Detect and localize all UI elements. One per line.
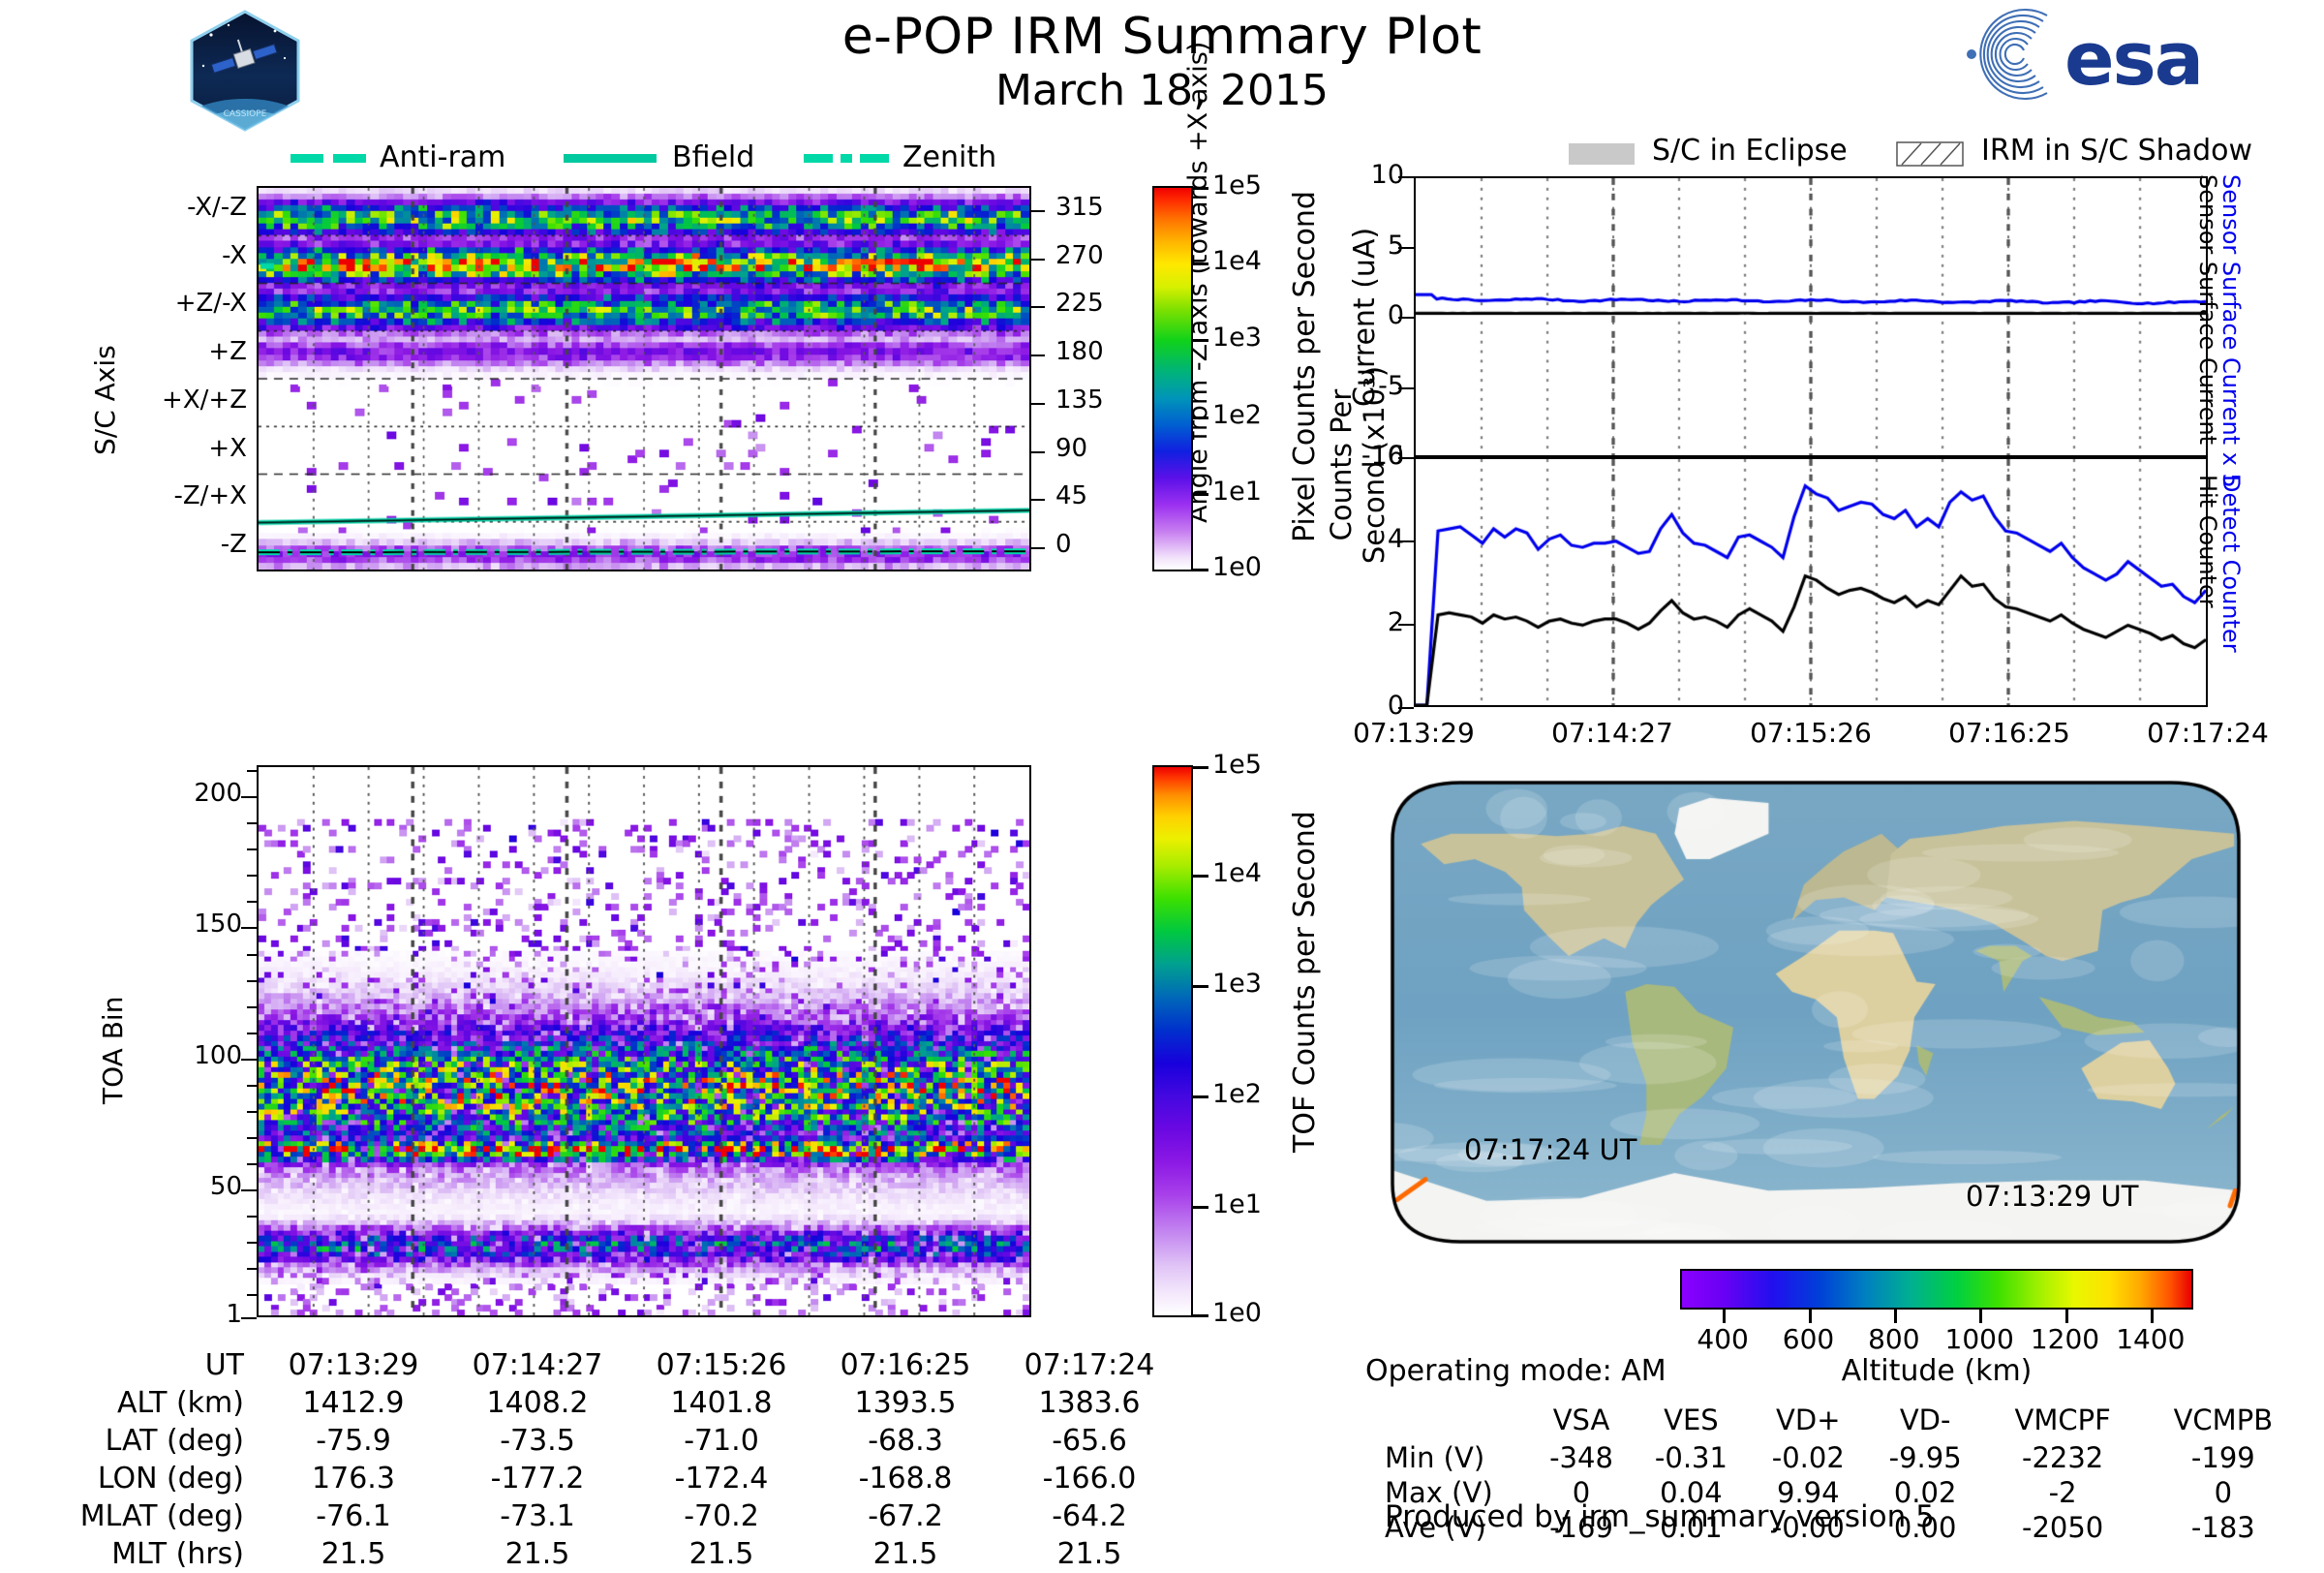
panel1-cb-label-2: 1e3 xyxy=(1212,323,1262,353)
legend-label-antiram: Anti-ram xyxy=(380,140,505,174)
right-xtick-0: 07:13:29 xyxy=(1336,717,1491,749)
panel1-ytick-0: -X/-Z xyxy=(107,193,247,222)
panel2-ytick-mark-4 xyxy=(241,1317,257,1319)
esa-wordmark: esa xyxy=(2064,15,2202,102)
sensor-surface-current-panel[interactable] xyxy=(1414,176,2208,457)
right-panel2-black-label: Hit Counter xyxy=(2194,475,2221,608)
voltage-header-row: VSAVESVD+VD-VMCPFVCMPB xyxy=(1385,1403,2305,1440)
shadow-swatch-icon xyxy=(1896,141,1964,167)
voltage-cell: -0.02 xyxy=(1750,1440,1867,1475)
panel2-cb-label-2: 1e3 xyxy=(1212,969,1262,999)
ephemeris-row: ALT (km)1412.91408.21401.81393.51383.6 xyxy=(39,1384,1181,1422)
panel2-minor-tick xyxy=(247,796,257,798)
alt-cb-tick-1 xyxy=(1809,1310,1812,1323)
world-map-canvas xyxy=(1385,775,2247,1249)
ephemeris-cell: 21.5 xyxy=(813,1535,997,1573)
alt-cb-tick-3 xyxy=(1979,1310,1982,1323)
alt-cb-tick-5 xyxy=(2151,1310,2154,1323)
rp1-tick xyxy=(1398,317,1414,319)
operating-mode-label: Operating mode: AM xyxy=(1365,1354,1667,1388)
panel1-ytick-mark-3 xyxy=(1031,355,1045,356)
alt-cb-label-0: 400 xyxy=(1697,1323,1748,1355)
ephemeris-cell: -166.0 xyxy=(997,1460,1181,1497)
ephemeris-cell: -177.2 xyxy=(445,1460,629,1497)
ephemeris-cell: 07:14:27 xyxy=(445,1346,629,1384)
voltage-cell: -2232 xyxy=(1984,1440,2142,1475)
ephemeris-cell: -68.3 xyxy=(813,1422,997,1460)
panel1-ytick-mark-2 xyxy=(1031,306,1045,308)
toa-bin-spectrogram-panel[interactable] xyxy=(257,765,1031,1317)
current-line-chart xyxy=(1416,178,2206,455)
panel1-ytick-right-2: 225 xyxy=(1055,289,1104,318)
voltage-cell: -183 xyxy=(2142,1510,2305,1545)
voltage-column-header: VES xyxy=(1633,1403,1750,1440)
voltage-cell: -2 xyxy=(1984,1475,2142,1510)
ephemeris-cell: -65.6 xyxy=(997,1422,1181,1460)
ephemeris-row: MLAT (deg)-76.1-73.1-70.2-67.2-64.2 xyxy=(39,1497,1181,1535)
panel1-legend: Anti-ram Bfield Zenith xyxy=(261,140,939,175)
panel2-minor-tick xyxy=(247,1137,257,1139)
ephemeris-cell: 21.5 xyxy=(261,1535,445,1573)
altitude-colorbar-title: Altitude (km) xyxy=(1680,1354,2193,1388)
voltage-column-header: VCMPB xyxy=(2142,1403,2305,1440)
ephemeris-row-label: LON (deg) xyxy=(39,1460,261,1497)
panel2-minor-tick xyxy=(247,1294,257,1296)
panel2-minor-tick xyxy=(247,1163,257,1165)
legend-antiram-dash-icon xyxy=(290,154,323,163)
voltage-cell: -2050 xyxy=(1984,1510,2142,1545)
panel2-minor-tick xyxy=(247,1268,257,1270)
panel2-cb-tick-2 xyxy=(1193,985,1208,988)
panel1-ytick-right-6: 45 xyxy=(1055,481,1087,510)
panel1-ytick-7: -Z xyxy=(107,530,247,559)
voltage-cell: -0.31 xyxy=(1633,1440,1750,1475)
panel2-cb-tick-4 xyxy=(1193,1206,1208,1209)
panel2-minor-tick xyxy=(247,848,257,850)
ephemeris-row-label: ALT (km) xyxy=(39,1384,261,1422)
panel2-cb-label-4: 1e1 xyxy=(1212,1189,1262,1219)
panel1-cb-tick-2 xyxy=(1193,339,1208,342)
panel1-cb-label-1: 1e4 xyxy=(1212,246,1262,276)
panel2-minor-tick xyxy=(247,875,257,877)
legend-label-zenith: Zenith xyxy=(902,140,996,174)
panel1-colorbar xyxy=(1152,186,1193,571)
cassiope-mission-patch-icon: CASSIOPE xyxy=(182,8,308,134)
ephemeris-row: MLT (hrs)21.521.521.521.521.5 xyxy=(39,1535,1181,1573)
ephemeris-cell: 07:13:29 xyxy=(261,1346,445,1384)
panel1-cb-tick-0 xyxy=(1193,187,1208,190)
panel2-ytick-4: 1 xyxy=(116,1300,242,1329)
ephemeris-cell: 1408.2 xyxy=(445,1384,629,1422)
panel2-minor-tick xyxy=(247,980,257,982)
panel1-ytick-right-7: 0 xyxy=(1055,530,1072,559)
legend-zenith-dashdot-icon-c xyxy=(860,154,889,163)
voltage-row: Min (V)-348-0.31-0.02-9.95-2232-199 xyxy=(1385,1440,2305,1475)
alt-cb-label-3: 1000 xyxy=(1945,1323,2014,1355)
panel1-ytick-mark-0 xyxy=(1031,210,1045,212)
map-label-start: 07:13:29 UT xyxy=(1966,1180,2138,1213)
ephemeris-table: UT07:13:2907:14:2707:15:2607:16:2507:17:… xyxy=(39,1346,1181,1573)
rp1-tick xyxy=(1398,387,1414,389)
ephemeris-cell: 21.5 xyxy=(997,1535,1181,1573)
rp2-tick xyxy=(1398,624,1414,626)
panel1-ytick-mark-7 xyxy=(1031,547,1045,549)
right-panel1-black-label: Sensor Surface Current xyxy=(2194,174,2221,445)
panel2-cb-label-5: 1e0 xyxy=(1212,1298,1262,1328)
panel2-minor-tick xyxy=(247,1111,257,1113)
ephemeris-row-label: UT xyxy=(39,1346,261,1384)
right-panel1-ytick-0: 10 xyxy=(1317,160,1404,190)
ephemeris-row-label: MLT (hrs) xyxy=(39,1535,261,1573)
legend-label-shadow: IRM in S/C Shadow xyxy=(1981,134,2252,168)
ephemeris-row-label: MLAT (deg) xyxy=(39,1497,261,1535)
legend-bfield-line-icon xyxy=(564,154,657,163)
panel2-minor-tick xyxy=(247,1059,257,1061)
rp2-tick xyxy=(1398,707,1414,709)
panel2-ytick-2: 100 xyxy=(116,1041,242,1070)
ephemeris-cell: 21.5 xyxy=(445,1535,629,1573)
right-panel2-ytick-1: 4 xyxy=(1336,524,1404,554)
panel2-ytick-3: 50 xyxy=(116,1172,242,1201)
voltage-column-header: VSA xyxy=(1530,1403,1633,1440)
legend-zenith-dashdot-icon-a xyxy=(804,154,833,163)
rp2-tick xyxy=(1398,540,1414,542)
alt-cb-tick-0 xyxy=(1723,1310,1726,1323)
ephemeris-cell: -73.5 xyxy=(445,1422,629,1460)
altitude-colorbar xyxy=(1680,1269,2193,1310)
panel1-cb-label-3: 1e2 xyxy=(1212,400,1262,430)
alt-cb-label-4: 1200 xyxy=(2031,1323,2099,1355)
panel1-ytick-right-0: 315 xyxy=(1055,193,1104,222)
right-panel1-ytick-2: 0 xyxy=(1317,300,1404,330)
panel2-cb-label-3: 1e2 xyxy=(1212,1079,1262,1109)
right-panel2-ytick-0: 6 xyxy=(1336,441,1404,471)
voltage-column-header: VMCPF xyxy=(1984,1403,2142,1440)
panel1-ytick-right-4: 135 xyxy=(1055,386,1104,415)
panel2-ytick-1: 150 xyxy=(116,910,242,939)
ephemeris-cell: -73.1 xyxy=(445,1497,629,1535)
eclipse-swatch-icon xyxy=(1569,143,1635,165)
voltage-corner-cell xyxy=(1385,1403,1530,1440)
panel1-ytick-4: +X/+Z xyxy=(107,386,247,415)
toa-bin-heatmap xyxy=(259,767,1029,1315)
right-panel2-blue-label: Detect Counter xyxy=(2217,475,2245,653)
panel1-ytick-2: +Z/-X xyxy=(107,289,247,318)
panel2-minor-tick xyxy=(247,901,257,903)
panel2-minor-tick xyxy=(247,1085,257,1087)
panel1-cb-tick-5 xyxy=(1193,569,1208,571)
rp1-tick xyxy=(1398,247,1414,249)
panel1-ytick-mark-1 xyxy=(1031,259,1045,261)
panel1-cb-tick-4 xyxy=(1193,493,1208,496)
panel2-cb-label-1: 1e4 xyxy=(1212,858,1262,888)
panel2-cb-tick-3 xyxy=(1193,1095,1208,1098)
panel1-ytick-5: +X xyxy=(107,434,247,463)
ground-track-map[interactable]: 07:17:24 UT 07:13:29 UT xyxy=(1385,775,2247,1249)
alt-cb-tick-2 xyxy=(1894,1310,1897,1323)
panel1-ytick-mark-6 xyxy=(1031,499,1045,501)
panel1-ytick-right-1: 270 xyxy=(1055,241,1104,270)
alt-cb-label-5: 1400 xyxy=(2116,1323,2185,1355)
map-label-end: 07:17:24 UT xyxy=(1464,1133,1636,1166)
ephemeris-cell: 1393.5 xyxy=(813,1384,997,1422)
sc-axis-spectrogram-panel[interactable] xyxy=(257,186,1031,571)
panel1-ytick-3: +Z xyxy=(107,337,247,366)
legend-zenith-dashdot-icon-b xyxy=(841,154,852,163)
panel1-ytick-right-3: 180 xyxy=(1055,337,1104,366)
rp1-tick xyxy=(1398,176,1414,178)
panel1-cb-tick-1 xyxy=(1193,262,1208,265)
panel1-cb-label-0: 1e5 xyxy=(1212,170,1262,200)
ephemeris-cell: -64.2 xyxy=(997,1497,1181,1535)
ephemeris-cell: 1401.8 xyxy=(629,1384,813,1422)
panel2-minor-tick xyxy=(247,1033,257,1034)
ephemeris-row-label: LAT (deg) xyxy=(39,1422,261,1460)
ephemeris-cell: -168.8 xyxy=(813,1460,997,1497)
panel2-minor-tick xyxy=(247,927,257,929)
panel2-colorbar xyxy=(1152,765,1193,1317)
alt-cb-label-1: 600 xyxy=(1783,1323,1834,1355)
alt-cb-tick-4 xyxy=(2065,1310,2068,1323)
ephemeris-cell: 21.5 xyxy=(629,1535,813,1573)
footer-credit: Produced by irm_summary version 5 xyxy=(1385,1499,1935,1534)
ephemeris-cell: 1412.9 xyxy=(261,1384,445,1422)
voltage-column-header: VD+ xyxy=(1750,1403,1867,1440)
panel1-cb-tick-3 xyxy=(1193,416,1208,419)
panel2-colorbar-label: TOF Counts per Second xyxy=(1288,811,1322,1153)
panel2-cb-tick-1 xyxy=(1193,875,1208,878)
panel2-cb-tick-5 xyxy=(1193,1314,1208,1317)
counts-per-second-panel[interactable] xyxy=(1414,457,2208,707)
panel1-ytick-mark-5 xyxy=(1031,451,1045,453)
patch-label: CASSIOPE xyxy=(224,109,267,119)
ephemeris-cell: 07:17:24 xyxy=(997,1346,1181,1384)
panel1-ytick-right-5: 90 xyxy=(1055,434,1087,463)
panel1-cb-label-4: 1e1 xyxy=(1212,477,1262,507)
sc-axis-heatmap xyxy=(259,188,1029,570)
panel1-cb-label-5: 1e0 xyxy=(1212,552,1262,582)
panel1-ytick-mark-4 xyxy=(1031,403,1045,405)
alt-cb-label-2: 800 xyxy=(1868,1323,1919,1355)
panel2-minor-tick xyxy=(247,954,257,956)
panel2-minor-tick xyxy=(247,1216,257,1218)
ephemeris-cell: 07:16:25 xyxy=(813,1346,997,1384)
voltage-cell: -348 xyxy=(1530,1440,1633,1475)
right-panel1-ytick-3: -5 xyxy=(1317,371,1404,401)
panel2-cb-tick-0 xyxy=(1193,766,1208,769)
ephemeris-cell: -70.2 xyxy=(629,1497,813,1535)
ephemeris-cell: 07:15:26 xyxy=(629,1346,813,1384)
esa-logo: esa xyxy=(1946,8,2285,103)
panel2-minor-tick xyxy=(247,770,257,772)
voltage-cell: -9.95 xyxy=(1867,1440,1984,1475)
panel1-ytick-1: -X xyxy=(107,241,247,270)
voltage-cell: 0 xyxy=(2142,1475,2305,1510)
panel2-minor-tick xyxy=(247,822,257,824)
panel2-minor-tick xyxy=(247,1006,257,1008)
panel1-ytick-6: -Z/+X xyxy=(107,481,247,510)
right-xtick-1: 07:14:27 xyxy=(1535,717,1690,749)
ephemeris-cell: 176.3 xyxy=(261,1460,445,1497)
legend-antiram-dash-icon-2 xyxy=(333,154,366,163)
right-xtick-3: 07:16:25 xyxy=(1932,717,2087,749)
ephemeris-cell: -71.0 xyxy=(629,1422,813,1460)
legend-label-bfield: Bfield xyxy=(672,140,754,174)
panel2-cb-label-0: 1e5 xyxy=(1212,750,1262,780)
rp2-tick xyxy=(1398,457,1414,459)
ephemeris-cell: -76.1 xyxy=(261,1497,445,1535)
ephemeris-row: UT07:13:2907:14:2707:15:2607:16:2507:17:… xyxy=(39,1346,1181,1384)
counts-line-chart xyxy=(1416,459,2206,705)
right-xtick-4: 07:17:24 xyxy=(2130,717,2285,749)
right-panel1-blue-label: Sensor Surface Current x 5 xyxy=(2217,174,2245,488)
voltage-column-header: VD- xyxy=(1867,1403,1984,1440)
right-panels-legend: S/C in Eclipse IRM in S/C Shadow xyxy=(1511,136,2285,170)
ephemeris-row: LAT (deg)-75.9-73.5-71.0-68.3-65.6 xyxy=(39,1422,1181,1460)
panel2-ytick-0: 200 xyxy=(116,779,242,808)
ephemeris-row: LON (deg)176.3-177.2-172.4-168.8-166.0 xyxy=(39,1460,1181,1497)
panel2-minor-tick xyxy=(247,1242,257,1244)
panel2-minor-tick xyxy=(247,1189,257,1191)
right-xtick-2: 07:15:26 xyxy=(1733,717,1888,749)
ephemeris-cell: -67.2 xyxy=(813,1497,997,1535)
right-panel2-ytick-2: 2 xyxy=(1336,607,1404,637)
legend-label-eclipse: S/C in Eclipse xyxy=(1652,134,1848,168)
voltage-row-label: Min (V) xyxy=(1385,1440,1530,1475)
ephemeris-cell: 1383.6 xyxy=(997,1384,1181,1422)
ephemeris-cell: -172.4 xyxy=(629,1460,813,1497)
ephemeris-cell: -75.9 xyxy=(261,1422,445,1460)
voltage-cell: -199 xyxy=(2142,1440,2305,1475)
right-panel1-ytick-1: 5 xyxy=(1317,231,1404,261)
